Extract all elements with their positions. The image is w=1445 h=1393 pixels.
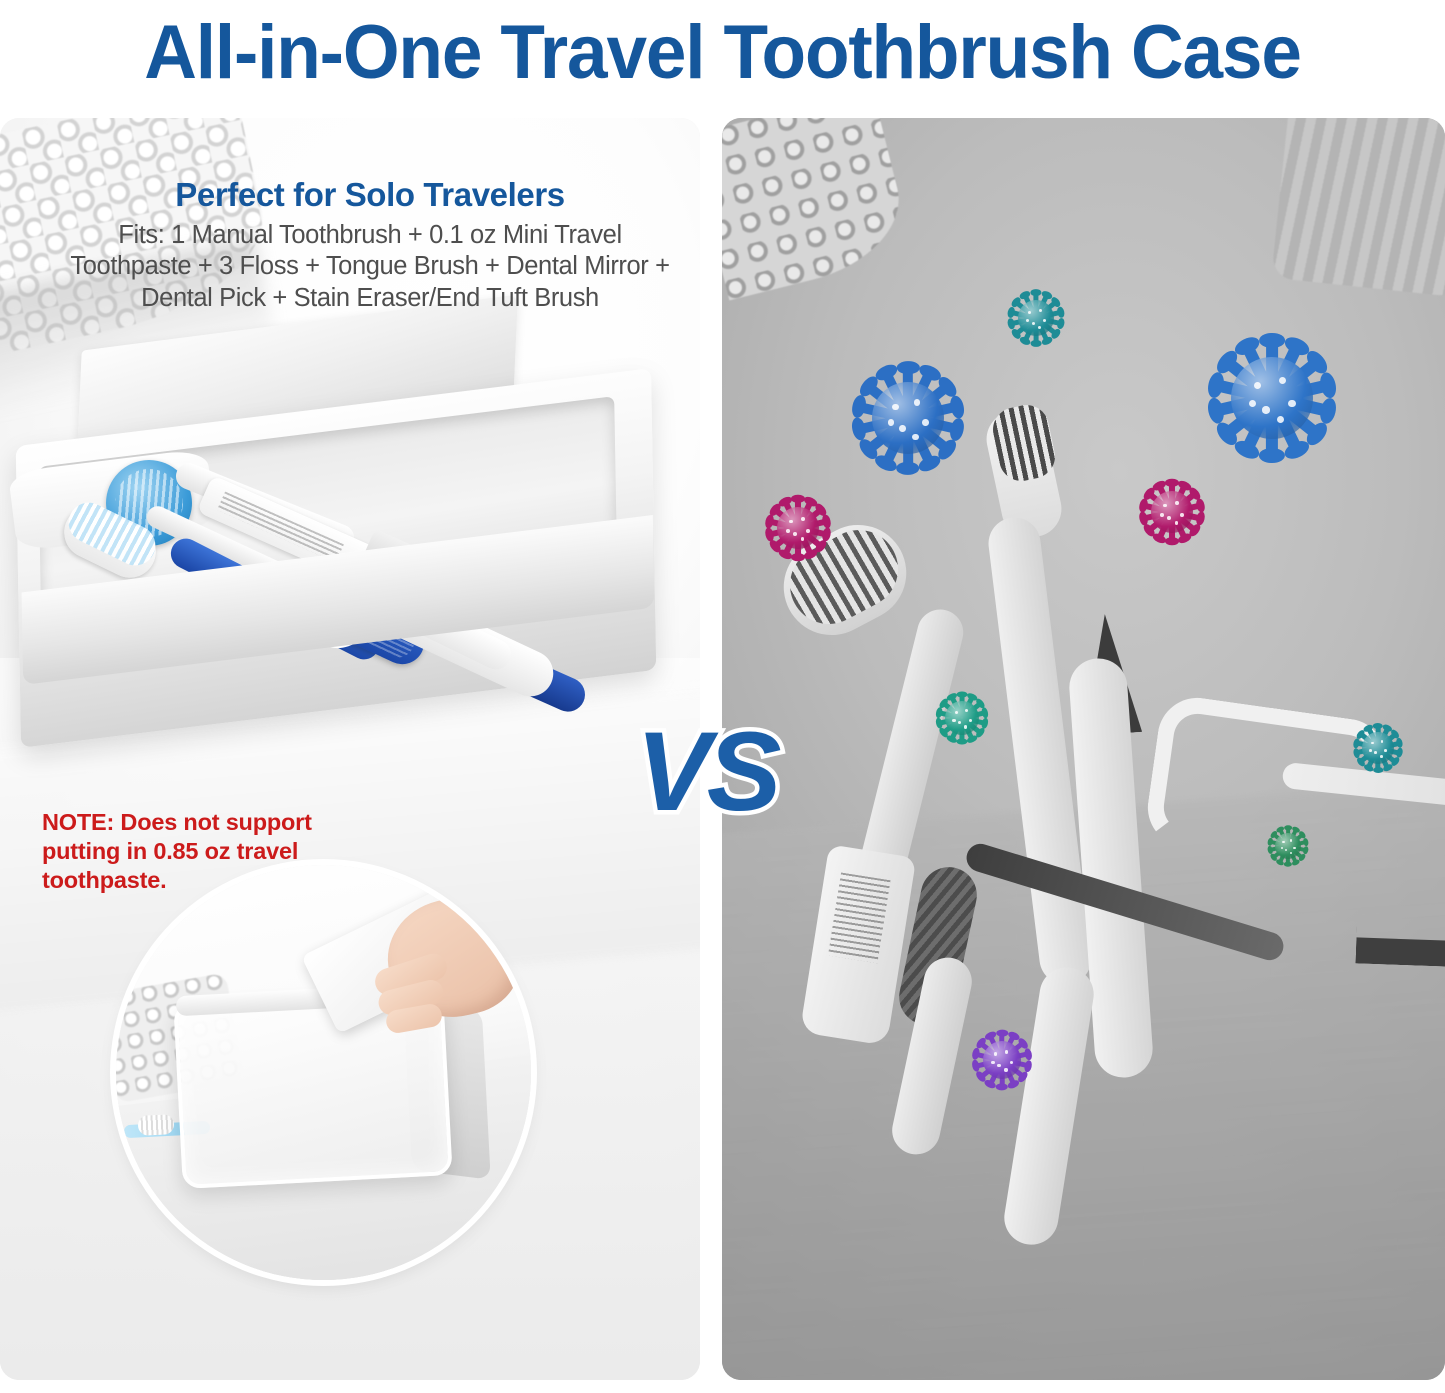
germ-dots (872, 382, 944, 454)
germ-dots (983, 1041, 1021, 1079)
compact-size-inset: Compact & Bag-Friendly Size (116, 865, 531, 1280)
left-panel-organized: Perfect for Solo Travelers Fits: 1 Manua… (0, 118, 700, 1380)
inset-toothbrush-head (138, 1114, 175, 1136)
germ-icon (1275, 833, 1301, 859)
left-panel-subheading: Fits: 1 Manual Toothbrush + 0.1 oz Mini … (60, 220, 680, 314)
travel-case-photo (10, 308, 690, 728)
germ-icon (872, 382, 944, 454)
page-title: All-in-One Travel Toothbrush Case (29, 0, 1416, 106)
germ-icon (1018, 300, 1054, 336)
germ-icon (945, 701, 979, 735)
ribbed-cup (1271, 118, 1445, 297)
germ-dots (1275, 833, 1301, 859)
germ-dots (945, 701, 979, 735)
germ-dots (777, 507, 819, 549)
germ-dots (1018, 300, 1054, 336)
vs-badge: VS (636, 716, 777, 828)
messy-dental-hook (1355, 814, 1445, 973)
right-panel-messy: Messy (722, 118, 1445, 1380)
germ-dots (1151, 491, 1193, 533)
germ-icon (777, 507, 819, 549)
germ-dots (1362, 732, 1394, 764)
germ-icon (1231, 357, 1313, 439)
germ-icon (1151, 491, 1193, 533)
germ-dots (1231, 357, 1313, 439)
left-panel-heading: Perfect for Solo Travelers (60, 176, 680, 214)
germ-icon (983, 1041, 1021, 1079)
left-panel-text-block: Perfect for Solo Travelers Fits: 1 Manua… (60, 176, 680, 314)
germ-icon (1362, 732, 1394, 764)
